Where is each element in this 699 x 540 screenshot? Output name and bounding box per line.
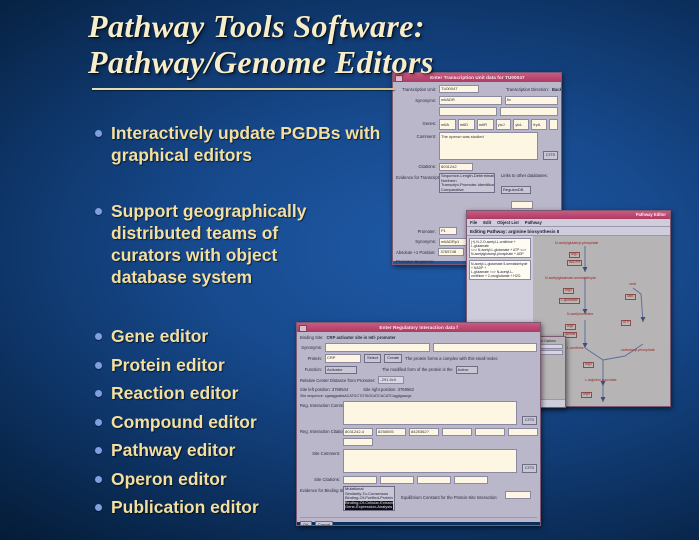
gene-input[interactable]: mtlR: [477, 119, 494, 130]
field-row-ri-citations-2: [300, 438, 537, 446]
evidence-tu-listbox[interactable]: Sequence-Length-Determination Northern T…: [439, 173, 495, 193]
bullet-dot-icon: [95, 333, 102, 340]
field-row-ri-citations: Reg. Interaction Citations: 8031242-4 82…: [300, 428, 537, 436]
label-transcription-unit: Transcription Unit:: [396, 87, 436, 92]
list-item-operon-editor: Operon editor: [95, 468, 330, 490]
site-citation-input[interactable]: [454, 476, 488, 484]
field-row-ri-comment: Reg. Interaction Comment: CITS: [300, 401, 537, 425]
window-regulatory-interaction-editor[interactable]: Enter Regulatory Interaction data f Bind…: [296, 322, 541, 526]
field-row-synonyms: Synonyms: mtlADR fix: [396, 96, 558, 105]
field-row-comment: Comment: The operon was studied CITS: [396, 132, 558, 160]
pathway-enzyme[interactable]: carB: [625, 294, 636, 300]
ri-citation-input[interactable]: 8258005: [376, 428, 406, 436]
field-row-site-comment: Site Comment: CITS: [300, 449, 537, 473]
pathway-enzyme[interactable]: argC: [569, 252, 580, 258]
field-row-citations: Citations: 8031242: [396, 163, 558, 171]
site-cits-button[interactable]: CITS: [522, 464, 537, 473]
field-row-site-positions: Site left position: 3769544 Site right p…: [300, 387, 537, 392]
field-row-function: Function: Activator The modified form of…: [300, 366, 537, 374]
synonym-input-4[interactable]: [500, 107, 558, 116]
ri-citation-input[interactable]: [442, 428, 472, 436]
site-citation-input[interactable]: [417, 476, 451, 484]
label-synonyms: Synonyms:: [396, 98, 436, 103]
field-row-relative-center: Relative Center Distance from Promoter: …: [300, 376, 537, 384]
relative-center-input[interactable]: -291.5±0: [378, 376, 404, 384]
gene-input[interactable]: mtlA: [439, 119, 456, 130]
bullet-text: Pathway editor: [111, 439, 235, 461]
gene-input[interactable]: mtlD: [458, 119, 475, 130]
ri-citation-input[interactable]: 8031242-4: [343, 428, 373, 436]
select-button[interactable]: Select: [364, 354, 381, 363]
bullet-dot-icon: [95, 362, 102, 369]
label-direction: Transcription Direction:: [506, 87, 549, 92]
protein-note: The protein forms a complex with this sm…: [405, 356, 498, 361]
ri-citation-input[interactable]: [475, 428, 505, 436]
pathway-enzyme[interactable]: argD: [563, 288, 574, 294]
bullet-text: Operon editor: [111, 468, 227, 490]
pathway-node[interactable]: L-ornithine: [567, 346, 584, 350]
bullet-dot-icon: [95, 447, 102, 454]
window-title: Pathway Editor: [636, 212, 666, 217]
promoter-input[interactable]: P1: [439, 227, 457, 235]
gene-input[interactable]: yicJ: [496, 119, 512, 130]
citation-input[interactable]: 8031242: [439, 163, 473, 171]
absolute-position-input[interactable]: 3769748: [438, 248, 464, 256]
menu-pathway[interactable]: Pathway: [525, 220, 542, 225]
bullet-text: Gene editor: [111, 325, 208, 347]
gene-input[interactable]: [549, 119, 558, 130]
bullet-dot-icon: [95, 504, 102, 511]
menu-object-list[interactable]: Object List: [497, 220, 519, 225]
pathway-node[interactable]: N-acetylglutamyl-phosphate: [555, 241, 598, 245]
label-evidence-tu: Evidence for Transcription Unit:: [396, 175, 436, 180]
pathway-cofactor[interactable]: L-glutamate: [559, 298, 580, 304]
ri-citation-input-extra[interactable]: [343, 438, 373, 446]
field-row-evidence-binding: Evidence for Binding Site: Mutational Si…: [300, 486, 537, 511]
field-row-site-citations: Site Citations:: [300, 476, 537, 484]
field-row-transcription-unit: Transcription Unit: TU00047 Transcriptio…: [396, 85, 558, 93]
dialog-button-row: OK Cancel: [300, 517, 537, 526]
bullet-group-secondary: Support geographically distributed teams…: [95, 200, 350, 288]
pathway-node[interactable]: L-arginino-succinate: [585, 378, 617, 382]
bullet-group-editors: Gene editor Protein editor Reaction edit…: [95, 325, 330, 525]
listbox-option[interactable]: Comparative: [441, 188, 493, 193]
field-row-protein: Protein: CRP Select Create The protein f…: [300, 354, 537, 363]
bullet-text: Interactively update PGDBs with graphica…: [111, 122, 385, 166]
list-item-pathway-editor: Pathway editor: [95, 439, 330, 461]
field-row-synonyms-2: [396, 107, 558, 116]
gene-input[interactable]: fryA: [531, 119, 547, 130]
bullet-text: Publication editor: [111, 496, 259, 518]
titlebar: Enter Regulatory Interaction data f: [297, 323, 540, 332]
field-row-binding-site: Binding Site: CRP activator site in mtl-…: [300, 335, 537, 340]
synonym-input-1[interactable]: mtlADR: [439, 96, 502, 105]
ri-citation-input[interactable]: [508, 428, 538, 436]
label-citations: Citations:: [396, 164, 436, 169]
gene-input[interactable]: yicL: [513, 119, 529, 130]
bullet-dot-icon: [95, 476, 102, 483]
label-absolute-position: Absolute +1 Position:: [396, 250, 435, 255]
list-item-gene-editor: Gene editor: [95, 325, 330, 347]
label-links-db: Links to other databases:: [501, 173, 558, 178]
protein-input[interactable]: CRP: [325, 354, 361, 363]
equation-line: ornithine + 2-oxoglutarate + H2O: [471, 274, 529, 278]
menu-file[interactable]: File: [470, 220, 477, 225]
site-comment-textarea[interactable]: [343, 449, 517, 473]
label-comment: Comment:: [396, 134, 436, 139]
listbox-option-selected[interactable]: Gene-Expression-Analysis: [345, 505, 393, 510]
synonym-input-3[interactable]: [439, 107, 497, 116]
evidence-binding-listbox[interactable]: Mutational Similarity-To-Consensus Bindi…: [343, 486, 395, 511]
cits-button[interactable]: CITS: [543, 151, 558, 160]
label-equilibrium-constant: Equilibrium Constant for the Protein-Sit…: [401, 495, 498, 500]
bullet-text: Compound editor: [111, 411, 257, 433]
genes-field-group: mtlA mtlD mtlR yicJ yicL fryA: [439, 119, 558, 130]
ri-cits-button[interactable]: CITS: [522, 416, 537, 425]
list-item-publication-editor: Publication editor: [95, 496, 330, 518]
dialog-body: Binding Site: CRP activator site in mtl-…: [297, 332, 540, 522]
title-line-2: Pathway/Genome Editors: [88, 44, 558, 80]
links-id-input[interactable]: [511, 201, 533, 209]
synonym-input-2[interactable]: [433, 343, 538, 352]
synonym-input-2[interactable]: fix: [505, 96, 558, 105]
pathway-node[interactable]: carA: [629, 282, 636, 286]
window-title: Enter Regulatory Interaction data f: [379, 325, 458, 331]
title-underline-rule: [92, 88, 395, 90]
slide-canvas: Pathway Tools Software: Pathway/Genome E…: [0, 0, 699, 540]
bullet-dot-icon: [95, 419, 102, 426]
equilibrium-constant-input[interactable]: [505, 491, 531, 499]
site-citation-input[interactable]: [343, 476, 377, 484]
field-row-synonyms: Synonyms:: [300, 343, 537, 352]
equilibrium-group: Equilibrium Constant for the Protein-Sit…: [401, 486, 531, 504]
active-state-dropdown[interactable]: Active: [456, 366, 478, 374]
links-db-value[interactable]: RegulonDB: [501, 186, 531, 194]
list-item-reaction-editor: Reaction editor: [95, 382, 330, 404]
pathway-enzyme[interactable]: argE: [565, 324, 576, 330]
field-row-genes: Genes: mtlA mtlD mtlR yicJ yicL fryA: [396, 119, 558, 130]
pathway-subtitle: Editing Pathway: arginine biosynthesis I…: [467, 227, 670, 236]
titlebar: Pathway Editor: [467, 211, 670, 219]
equation-box-1[interactable]: (+)-N-2-O-acetyl-L-ornithine + L-glutama…: [469, 238, 531, 258]
pathway-node[interactable]: N-acetylglutamate-semialdehyde: [545, 276, 596, 280]
ri-comment-textarea[interactable]: [343, 401, 517, 425]
bullet-text: Reaction editor: [111, 382, 238, 404]
synonym-input-1[interactable]: [325, 343, 430, 352]
menu-edit[interactable]: Edit: [483, 220, 491, 225]
ri-citation-input[interactable]: 8425362?: [409, 428, 439, 436]
bullet-group-primary: Interactively update PGDBs with graphica…: [95, 122, 385, 166]
site-citation-input[interactable]: [380, 476, 414, 484]
list-item-protein-editor: Protein editor: [95, 354, 330, 376]
equation-box-2[interactable]: N-acetyl-L-glutamate 5-semialdehyde + NA…: [469, 260, 531, 280]
create-button[interactable]: Create: [384, 354, 402, 363]
label-promoter-synonyms: Synonyms:: [396, 239, 436, 244]
site-right-position: Site right position: 3769562: [363, 387, 414, 392]
pathway-enzyme[interactable]: argG: [583, 362, 594, 368]
value-direction: Backward: [552, 87, 562, 92]
pathway-node[interactable]: carbamoyl-phosphate: [621, 348, 655, 352]
modified-form-note: The modified form of the protein is the: [382, 367, 453, 372]
field-row-site-sequence: Site sequence: cgaaggcattaACATGCTGTAGGAT…: [300, 394, 537, 398]
pathway-node[interactable]: N-acetylornithine: [567, 312, 593, 316]
list-item: Interactively update PGDBs with graphica…: [95, 122, 385, 166]
bullet-dot-icon: [95, 130, 102, 137]
menubar[interactable]: File Edit Object List Pathway: [467, 219, 670, 227]
equation-line: N-acetylglutamyl-phosphate + ADP: [471, 252, 529, 256]
bullet-dot-icon: [95, 390, 102, 397]
title-line-1: Pathway Tools Software:: [88, 8, 558, 44]
value-binding-site: CRP activator site in mtl- promoter: [327, 335, 396, 340]
label-genes: Genes:: [396, 121, 436, 126]
list-item: Support geographically distributed teams…: [95, 200, 350, 288]
comment-textarea[interactable]: The operon was studied: [439, 132, 538, 160]
pathway-cofactor[interactable]: NADPH: [567, 260, 582, 266]
pathway-enzyme[interactable]: argH: [581, 392, 592, 398]
page-title: Pathway Tools Software: Pathway/Genome E…: [88, 8, 558, 81]
pathway-cofactor[interactable]: ATP: [621, 320, 631, 326]
label-promoter: Promoter:: [396, 229, 436, 234]
transcription-unit-input[interactable]: TU00047: [439, 85, 479, 93]
bullet-text: Support geographically distributed teams…: [111, 200, 350, 288]
bullet-dot-icon: [95, 208, 102, 215]
bullet-text: Protein editor: [111, 354, 225, 376]
list-item-compound-editor: Compound editor: [95, 411, 330, 433]
